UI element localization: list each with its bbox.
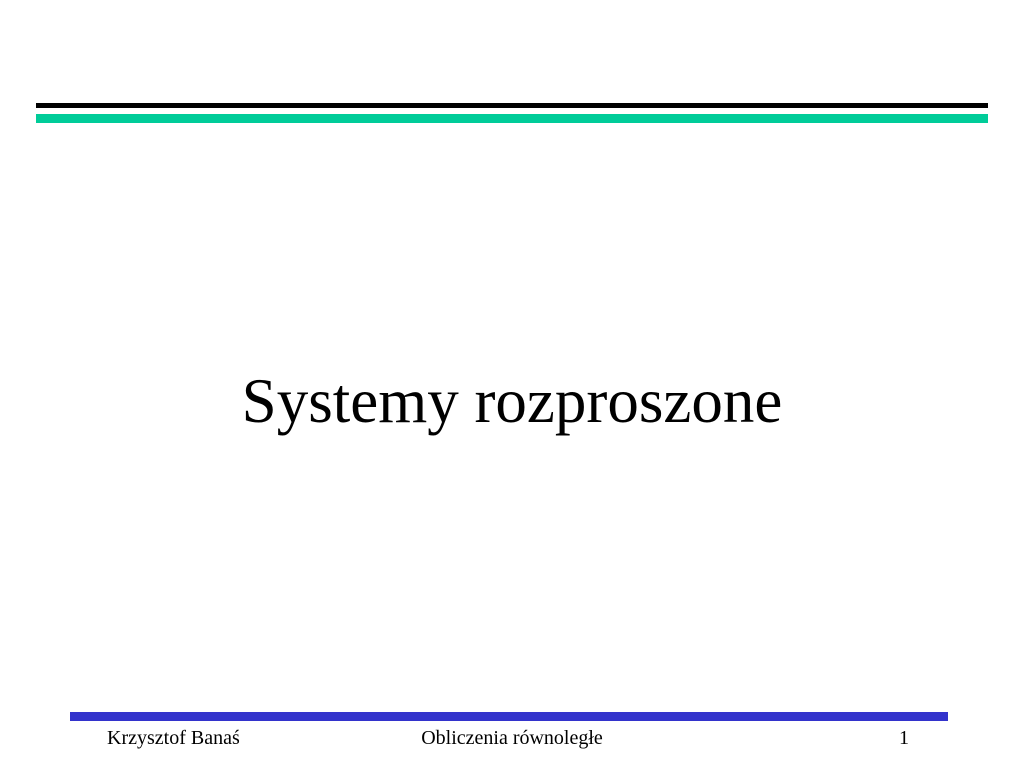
footer-course-title: Obliczenia równoległe [0,727,1024,750]
header-green-rule [36,114,988,123]
title-area: Systemy rozproszone [0,356,1024,446]
footer-bar: Krzysztof Banaś Obliczenia równoległe 1 [0,727,1024,761]
footer-blue-rule [70,712,948,721]
presentation-slide: Systemy rozproszone Krzysztof Banaś Obli… [0,0,1024,767]
header-decoration [36,100,988,126]
header-black-rule [36,103,988,108]
footer-page-number: 1 [899,727,909,750]
slide-title: Systemy rozproszone [242,368,783,434]
